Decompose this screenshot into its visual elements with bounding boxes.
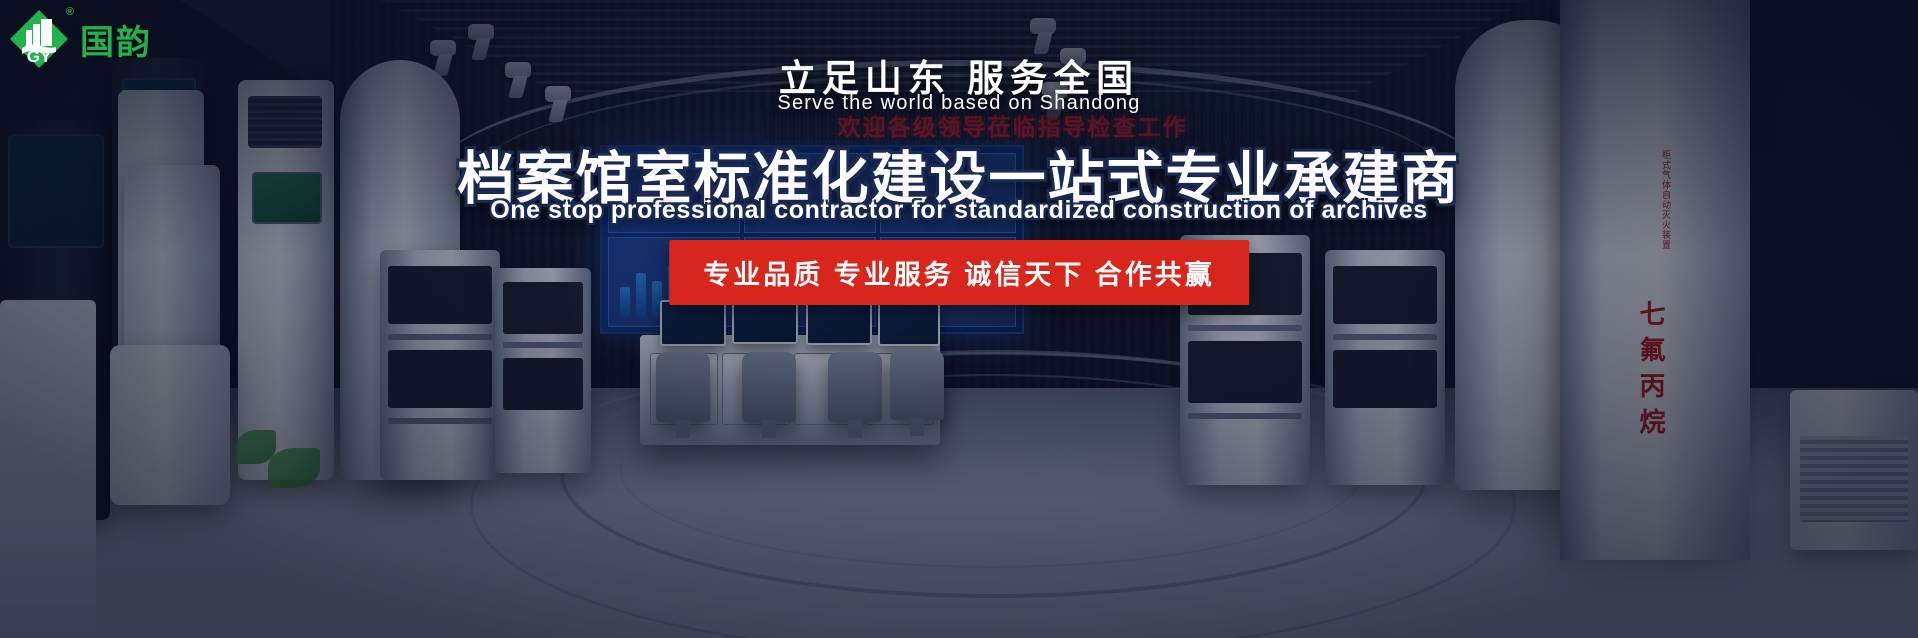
hero-tagline-en: Serve the world based on Shandong xyxy=(0,92,1918,115)
hero-overlay: GY ® 国韵 立足山东 服务全国 Serve the world based … xyxy=(0,0,1918,638)
hero-headline-en: One stop professional contractor for sta… xyxy=(0,196,1918,225)
hero-banner: 欢迎各级领导莅临指导检查工作 七氟丙烷 柜式气体自动灭火装置 xyxy=(0,0,1918,638)
hero-cta-button[interactable]: 专业品质 专业服务 诚信天下 合作共赢 xyxy=(669,240,1249,305)
registered-mark: ® xyxy=(66,6,74,18)
